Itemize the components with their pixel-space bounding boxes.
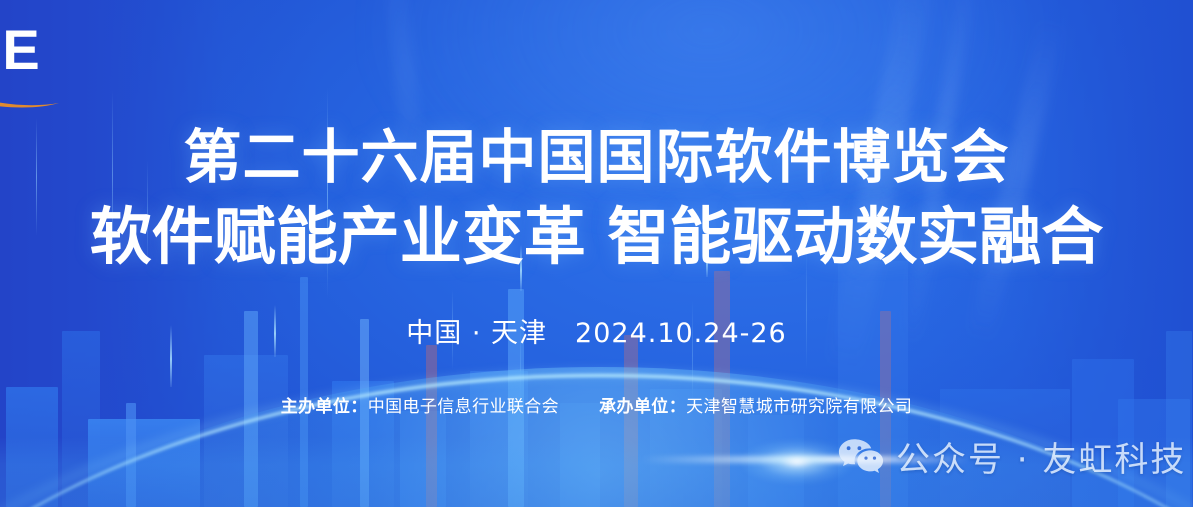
date-location: 中国 · 天津 2024.10.24-26: [0, 311, 1193, 350]
software-expo-banner: SE 第二十六届中国国际软件博览会 软件赋能产业变革 智能驱动数实融合 中国 ·…: [0, 0, 1193, 507]
event-title-line-1: 第二十六届中国国际软件博览会: [0, 128, 1193, 186]
organizer-value: 天津智慧城市研究院有限公司: [686, 397, 912, 417]
lens-flare: [742, 440, 852, 484]
organizer-line: 主办单位：中国电子信息行业联合会承办单位：天津智慧城市研究院有限公司: [0, 392, 1193, 417]
organizer-label: 承办单位：: [599, 397, 686, 417]
logo-swoosh-icon: [0, 70, 104, 112]
watermark: 公众号 · 友虹科技: [838, 432, 1186, 481]
wechat-icon: [838, 437, 884, 477]
logo: SE: [0, 22, 124, 108]
host-label: 主办单位：: [281, 397, 368, 417]
event-title-line-2: 软件赋能产业变革 智能驱动数实融合: [0, 206, 1193, 268]
watermark-text: 公众号 · 友虹科技: [896, 432, 1186, 481]
host-value: 中国电子信息行业联合会: [368, 397, 559, 417]
